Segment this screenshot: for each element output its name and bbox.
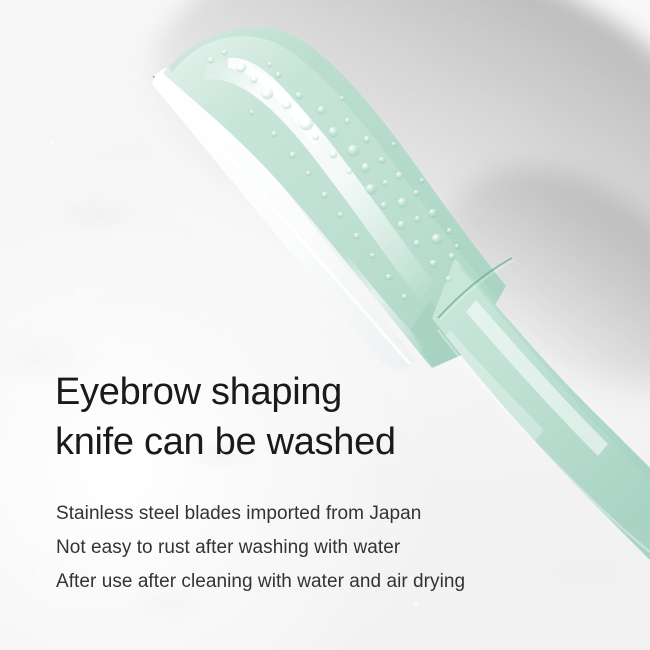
- page-title: Eyebrow shaping knife can be washed: [55, 367, 396, 467]
- feature-list: Stainless steel blades imported from Jap…: [56, 497, 465, 599]
- feature-item: Not easy to rust after washing with wate…: [56, 531, 465, 565]
- feature-item: After use after cleaning with water and …: [56, 565, 465, 599]
- product-image: Eyebrow shaping knife can be washed Stai…: [0, 0, 650, 650]
- feature-item: Stainless steel blades imported from Jap…: [56, 497, 465, 531]
